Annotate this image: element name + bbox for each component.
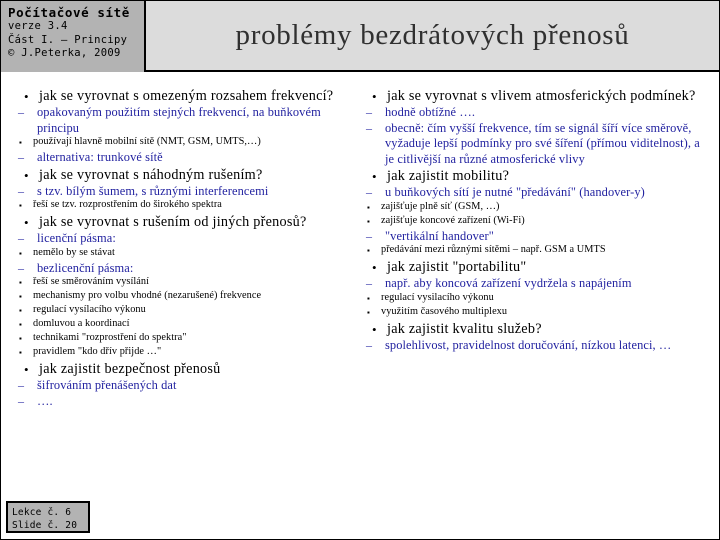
bullet-marker-level-2-icon: – bbox=[15, 378, 37, 394]
bullet-row: ▪regulací vysilacího výkonu bbox=[363, 292, 708, 306]
bullet-text: licenční pásma: bbox=[37, 231, 360, 247]
bullet-list-right: •jak se vyrovnat s vlivem atmosferických… bbox=[363, 88, 708, 353]
bullet-row: –u buňkových sítí je nutné "předávání" (… bbox=[363, 185, 708, 201]
bullet-marker-level-1-icon: • bbox=[363, 168, 387, 185]
bullet-item-level-3: ▪řeší se tzv. rozprostřením do širokého … bbox=[15, 199, 360, 213]
bullet-text: spolehlivost, pravidelnost doručování, n… bbox=[385, 338, 708, 354]
bullet-marker-level-2-icon: – bbox=[15, 184, 37, 200]
bullet-item-level-3: ▪regulací vysílacího výkonu bbox=[15, 304, 360, 318]
bullet-row: –"vertikální handover" bbox=[363, 229, 708, 245]
bullet-marker-level-1-icon: • bbox=[15, 214, 39, 231]
bullet-text: např. aby koncová zařízení vydržela s na… bbox=[385, 276, 708, 292]
bullet-marker-level-3-icon: ▪ bbox=[15, 318, 33, 332]
bullet-marker-level-3-icon: ▪ bbox=[363, 244, 381, 258]
bullet-row: ▪řeší se tzv. rozprostřením do širokého … bbox=[15, 199, 360, 213]
bullet-item-level-2: –…. bbox=[15, 394, 360, 410]
bullet-item-level-2: –s tzv. bílým šumem, s různými interfere… bbox=[15, 184, 360, 214]
bullet-row: –licenční pásma: bbox=[15, 231, 360, 247]
bullet-item-level-1: •jak se vyrovnat s rušením od jiných pře… bbox=[15, 214, 360, 360]
bullet-sublist-level-2: –opakovaným použitím stejných frekvencí,… bbox=[15, 105, 360, 166]
bullet-marker-level-2-icon: – bbox=[15, 150, 37, 166]
bullet-row: ▪pravidlem "kdo dřív přijde …" bbox=[15, 346, 360, 360]
bullet-text: jak se vyrovnat s omezeným rozsahem frek… bbox=[39, 88, 360, 105]
content-column-left: •jak se vyrovnat s omezeným rozsahem fre… bbox=[15, 88, 360, 410]
bullet-sublist-level-2: –šifrováním přenášených dat–…. bbox=[15, 378, 360, 409]
bullet-row: ▪používají hlavně mobilní sítě (NMT, GSM… bbox=[15, 136, 360, 150]
bullet-row: ▪zajišťuje koncové zařízení (Wi-Fi) bbox=[363, 215, 708, 229]
presentation-slide: Počítačové sítě verze 3.4 Část I. – Prin… bbox=[0, 0, 720, 540]
bullet-item-level-3: ▪řeší se směrováním vysílání bbox=[15, 276, 360, 290]
bullet-marker-level-2-icon: – bbox=[363, 121, 385, 137]
bullet-text: jak zajistit mobilitu? bbox=[387, 168, 708, 185]
bullet-text: jak se vyrovnat s rušením od jiných přen… bbox=[39, 214, 360, 231]
bullet-text: jak zajistit kvalitu služeb? bbox=[387, 321, 708, 338]
bullet-sublist-level-2: –u buňkových sítí je nutné "předávání" (… bbox=[363, 185, 708, 258]
bullet-sublist-level-2: –hodně obtížné ….–obecně: čím vyšší frek… bbox=[363, 105, 708, 167]
bullet-item-level-2: –u buňkových sítí je nutné "předávání" (… bbox=[363, 185, 708, 229]
bullet-text: zajišťuje plně síť (GSM, …) bbox=[381, 201, 708, 214]
bullet-item-level-1: •jak se vyrovnat s omezeným rozsahem fre… bbox=[15, 88, 360, 166]
bullet-marker-level-3-icon: ▪ bbox=[15, 199, 33, 213]
bullet-text: alternativa: trunkové sítě bbox=[37, 150, 360, 166]
bullet-sublist-level-2: –spolehlivost, pravidelnost doručování, … bbox=[363, 338, 708, 354]
bullet-row: –např. aby koncová zařízení vydržela s n… bbox=[363, 276, 708, 292]
page-title: problémy bezdrátových přenosů bbox=[236, 19, 630, 52]
bullet-marker-level-2-icon: – bbox=[363, 276, 385, 292]
bullet-row: –s tzv. bílým šumem, s různými interfere… bbox=[15, 184, 360, 200]
bullet-item-level-1: •jak zajistit bezpečnost přenosů–šifrová… bbox=[15, 361, 360, 409]
bullet-row: •jak zajistit bezpečnost přenosů bbox=[15, 361, 360, 378]
bullet-marker-level-2-icon: – bbox=[15, 394, 37, 410]
bullet-text: řeší se směrováním vysílání bbox=[33, 276, 360, 289]
bullet-text: s tzv. bílým šumem, s různými interferen… bbox=[37, 184, 360, 200]
bullet-row: –opakovaným použitím stejných frekvencí,… bbox=[15, 105, 360, 136]
bullet-row: •jak zajistit "portabilitu" bbox=[363, 259, 708, 276]
bullet-item-level-2: –bezlicenční pásma:▪řeší se směrováním v… bbox=[15, 261, 360, 361]
slide-title-area: problémy bezdrátových přenosů bbox=[146, 1, 719, 70]
bullet-item-level-1: •jak se vyrovnat s náhodným rušením?–s t… bbox=[15, 167, 360, 214]
bullet-marker-level-3-icon: ▪ bbox=[15, 290, 33, 304]
bullet-row: •jak se vyrovnat s rušením od jiných pře… bbox=[15, 214, 360, 231]
bullet-text: "vertikální handover" bbox=[385, 229, 708, 245]
bullet-sublist-level-2: –licenční pásma:▪nemělo by se stávat–bez… bbox=[15, 231, 360, 360]
bullet-item-level-1: •jak zajistit "portabilitu"–např. aby ko… bbox=[363, 259, 708, 320]
bullet-item-level-3: ▪nemělo by se stávat bbox=[15, 247, 360, 261]
bullet-sublist-level-3: ▪řeší se tzv. rozprostřením do širokého … bbox=[15, 199, 360, 213]
bullet-marker-level-2-icon: – bbox=[15, 105, 37, 121]
bullet-marker-level-1-icon: • bbox=[15, 361, 39, 378]
bullet-text: …. bbox=[37, 394, 360, 410]
bullet-sublist-level-2: –s tzv. bílým šumem, s různými interfere… bbox=[15, 184, 360, 214]
bullet-marker-level-1-icon: • bbox=[15, 167, 39, 184]
bullet-text: opakovaným použitím stejných frekvencí, … bbox=[37, 105, 360, 136]
bullet-marker-level-3-icon: ▪ bbox=[363, 201, 381, 215]
bullet-marker-level-3-icon: ▪ bbox=[15, 304, 33, 318]
bullet-text: technikami "rozprostření do spektra" bbox=[33, 332, 360, 345]
bullet-row: –alternativa: trunkové sítě bbox=[15, 150, 360, 166]
bullet-sublist-level-3: ▪regulací vysilacího výkonu▪využitím čas… bbox=[363, 292, 708, 320]
bullet-row: –bezlicenční pásma: bbox=[15, 261, 360, 277]
bullet-sublist-level-2: –např. aby koncová zařízení vydržela s n… bbox=[363, 276, 708, 320]
bullet-row: –obecně: čím vyšší frekvence, tím se sig… bbox=[363, 121, 708, 168]
bullet-row: ▪předávání mezi různými sítěmi – např. G… bbox=[363, 244, 708, 258]
slide-body: •jak se vyrovnat s omezeným rozsahem fre… bbox=[1, 72, 719, 538]
bullet-text: hodně obtížné …. bbox=[385, 105, 708, 121]
bullet-item-level-3: ▪předávání mezi různými sítěmi – např. G… bbox=[363, 244, 708, 258]
bullet-marker-level-3-icon: ▪ bbox=[15, 346, 33, 360]
bullet-item-level-3: ▪mechanismy pro volbu vhodné (nezarušené… bbox=[15, 290, 360, 304]
bullet-text: řeší se tzv. rozprostřením do širokého s… bbox=[33, 199, 360, 212]
bullet-text: obecně: čím vyšší frekvence, tím se sign… bbox=[385, 121, 708, 168]
bullet-item-level-3: ▪domluvou a koordinací bbox=[15, 318, 360, 332]
bullet-marker-level-3-icon: ▪ bbox=[15, 247, 33, 261]
bullet-item-level-2: –spolehlivost, pravidelnost doručování, … bbox=[363, 338, 708, 354]
course-part: Část I. – Principy bbox=[8, 34, 144, 48]
bullet-text: jak se vyrovnat s náhodným rušením? bbox=[39, 167, 360, 184]
bullet-sublist-level-3: ▪zajišťuje plně síť (GSM, …)▪zajišťuje k… bbox=[363, 201, 708, 229]
course-version: verze 3.4 bbox=[8, 20, 144, 34]
bullet-text: nemělo by se stávat bbox=[33, 247, 360, 260]
bullet-marker-level-3-icon: ▪ bbox=[15, 332, 33, 346]
bullet-marker-level-3-icon: ▪ bbox=[363, 292, 381, 306]
bullet-row: •jak se vyrovnat s vlivem atmosferických… bbox=[363, 88, 708, 105]
bullet-item-level-2: –obecně: čím vyšší frekvence, tím se sig… bbox=[363, 121, 708, 168]
bullet-row: ▪regulací vysílacího výkonu bbox=[15, 304, 360, 318]
bullet-item-level-3: ▪zajišťuje plně síť (GSM, …) bbox=[363, 201, 708, 215]
bullet-text: regulací vysílacího výkonu bbox=[33, 304, 360, 317]
bullet-row: –…. bbox=[15, 394, 360, 410]
bullet-text: domluvou a koordinací bbox=[33, 318, 360, 331]
course-identification-box: Počítačové sítě verze 3.4 Část I. – Prin… bbox=[1, 1, 146, 72]
bullet-item-level-2: –šifrováním přenášených dat bbox=[15, 378, 360, 394]
slide-footer-box: Lekce č. 6 Slide č. 20 bbox=[6, 501, 90, 533]
bullet-text: bezlicenční pásma: bbox=[37, 261, 360, 277]
bullet-marker-level-1-icon: • bbox=[363, 321, 387, 338]
slide-header: Počítačové sítě verze 3.4 Část I. – Prin… bbox=[1, 1, 719, 72]
bullet-marker-level-3-icon: ▪ bbox=[15, 136, 33, 150]
bullet-item-level-1: •jak zajistit mobilitu?–u buňkových sítí… bbox=[363, 168, 708, 258]
course-copyright: © J.Peterka, 2009 bbox=[8, 47, 144, 61]
course-title: Počítačové sítě bbox=[8, 5, 144, 20]
bullet-item-level-3: ▪používají hlavně mobilní sítě (NMT, GSM… bbox=[15, 136, 360, 150]
bullet-item-level-2: –"vertikální handover"▪předávání mezi rů… bbox=[363, 229, 708, 259]
bullet-row: •jak se vyrovnat s omezeným rozsahem fre… bbox=[15, 88, 360, 105]
bullet-row: –spolehlivost, pravidelnost doručování, … bbox=[363, 338, 708, 354]
bullet-marker-level-2-icon: – bbox=[363, 229, 385, 245]
bullet-item-level-2: –např. aby koncová zařízení vydržela s n… bbox=[363, 276, 708, 320]
bullet-row: •jak se vyrovnat s náhodným rušením? bbox=[15, 167, 360, 184]
bullet-row: –hodně obtížné …. bbox=[363, 105, 708, 121]
bullet-row: ▪domluvou a koordinací bbox=[15, 318, 360, 332]
bullet-item-level-1: •jak zajistit kvalitu služeb?–spolehlivo… bbox=[363, 321, 708, 354]
bullet-item-level-3: ▪regulací vysilacího výkonu bbox=[363, 292, 708, 306]
bullet-sublist-level-3: ▪předávání mezi různými sítěmi – např. G… bbox=[363, 244, 708, 258]
bullet-marker-level-3-icon: ▪ bbox=[15, 276, 33, 290]
bullet-item-level-2: –alternativa: trunkové sítě bbox=[15, 150, 360, 166]
footer-lecture-number: Lekce č. 6 bbox=[12, 506, 88, 519]
bullet-marker-level-1-icon: • bbox=[363, 88, 387, 105]
bullet-row: ▪zajišťuje plně síť (GSM, …) bbox=[363, 201, 708, 215]
bullet-sublist-level-3: ▪nemělo by se stávat bbox=[15, 247, 360, 261]
bullet-row: •jak zajistit mobilitu? bbox=[363, 168, 708, 185]
bullet-row: ▪mechanismy pro volbu vhodné (nezarušené… bbox=[15, 290, 360, 304]
bullet-row: ▪technikami "rozprostření do spektra" bbox=[15, 332, 360, 346]
bullet-text: zajišťuje koncové zařízení (Wi-Fi) bbox=[381, 215, 708, 228]
bullet-row: –šifrováním přenášených dat bbox=[15, 378, 360, 394]
bullet-item-level-2: –hodně obtížné …. bbox=[363, 105, 708, 121]
bullet-text: pravidlem "kdo dřív přijde …" bbox=[33, 346, 360, 359]
bullet-marker-level-2-icon: – bbox=[15, 261, 37, 277]
bullet-marker-level-2-icon: – bbox=[363, 105, 385, 121]
bullet-text: šifrováním přenášených dat bbox=[37, 378, 360, 394]
bullet-item-level-3: ▪využitím časového multiplexu bbox=[363, 306, 708, 320]
bullet-text: regulací vysilacího výkonu bbox=[381, 292, 708, 305]
bullet-sublist-level-3: ▪řeší se směrováním vysílání▪mechanismy … bbox=[15, 276, 360, 360]
bullet-item-level-3: ▪pravidlem "kdo dřív přijde …" bbox=[15, 346, 360, 360]
content-column-right: •jak se vyrovnat s vlivem atmosferických… bbox=[363, 88, 708, 354]
bullet-marker-level-2-icon: – bbox=[363, 185, 385, 201]
bullet-item-level-2: –licenční pásma:▪nemělo by se stávat bbox=[15, 231, 360, 261]
bullet-text: jak zajistit "portabilitu" bbox=[387, 259, 708, 276]
bullet-marker-level-1-icon: • bbox=[363, 259, 387, 276]
bullet-text: jak se vyrovnat s vlivem atmosferických … bbox=[387, 88, 708, 105]
bullet-text: u buňkových sítí je nutné "předávání" (h… bbox=[385, 185, 708, 201]
bullet-marker-level-1-icon: • bbox=[15, 88, 39, 105]
bullet-text: využitím časového multiplexu bbox=[381, 306, 708, 319]
bullet-row: ▪využitím časového multiplexu bbox=[363, 306, 708, 320]
bullet-marker-level-2-icon: – bbox=[15, 231, 37, 247]
bullet-row: •jak zajistit kvalitu služeb? bbox=[363, 321, 708, 338]
bullet-text: předávání mezi různými sítěmi – např. GS… bbox=[381, 244, 708, 257]
bullet-text: mechanismy pro volbu vhodné (nezarušené)… bbox=[33, 290, 360, 303]
bullet-text: jak zajistit bezpečnost přenosů bbox=[39, 361, 360, 378]
bullet-list-left: •jak se vyrovnat s omezeným rozsahem fre… bbox=[15, 88, 360, 409]
bullet-sublist-level-3: ▪používají hlavně mobilní sítě (NMT, GSM… bbox=[15, 136, 360, 150]
bullet-item-level-2: –opakovaným použitím stejných frekvencí,… bbox=[15, 105, 360, 150]
bullet-text: používají hlavně mobilní sítě (NMT, GSM,… bbox=[33, 136, 360, 149]
bullet-item-level-3: ▪technikami "rozprostření do spektra" bbox=[15, 332, 360, 346]
footer-slide-number: Slide č. 20 bbox=[12, 519, 88, 532]
bullet-row: ▪řeší se směrováním vysílání bbox=[15, 276, 360, 290]
bullet-row: ▪nemělo by se stávat bbox=[15, 247, 360, 261]
bullet-item-level-3: ▪zajišťuje koncové zařízení (Wi-Fi) bbox=[363, 215, 708, 229]
bullet-marker-level-3-icon: ▪ bbox=[363, 306, 381, 320]
bullet-marker-level-3-icon: ▪ bbox=[363, 215, 381, 229]
bullet-item-level-1: •jak se vyrovnat s vlivem atmosferických… bbox=[363, 88, 708, 167]
bullet-marker-level-2-icon: – bbox=[363, 338, 385, 354]
